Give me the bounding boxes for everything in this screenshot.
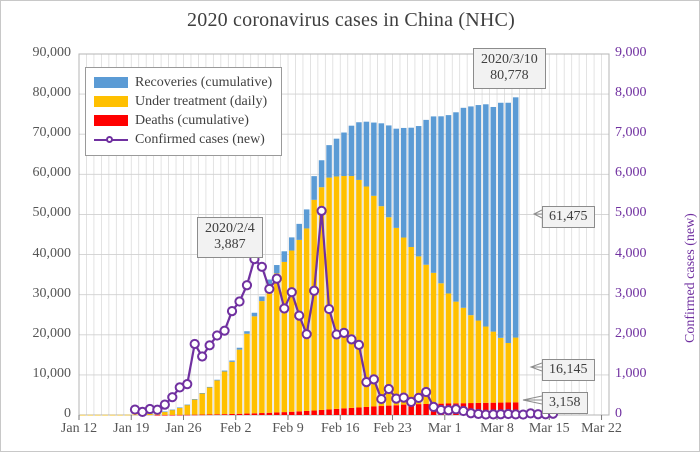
y-axis-left-tick: 70,000 [5, 125, 71, 141]
y-axis-left-tick: 10,000 [5, 366, 71, 382]
legend-color-swatch [94, 115, 128, 126]
y-axis-right-tick: 6,000 [615, 165, 647, 181]
y-axis-left-tick: 20,000 [5, 326, 71, 342]
y-axis-right-tick: 7,000 [615, 125, 647, 141]
y-axis-right-tick: 9,000 [615, 45, 647, 61]
annotation-line: 3,887 [205, 237, 255, 253]
y-axis-right-tick: 3,000 [615, 286, 647, 302]
annotation-line: 2020/2/4 [205, 221, 255, 237]
annotation-deaths-total: 3,158 [542, 392, 588, 414]
chart-legend: Recoveries (cumulative)Under treatment (… [85, 67, 282, 156]
annotation-line: 2020/3/10 [481, 52, 538, 68]
y-axis-left-tick: 40,000 [5, 246, 71, 262]
chart-title: 2020 coronavirus cases in China (NHC) [1, 9, 700, 32]
legend-label: Recoveries (cumulative) [135, 73, 272, 92]
legend-color-swatch [94, 96, 128, 107]
chart-frame: 2020 coronavirus cases in China (NHC) 01… [0, 0, 700, 452]
y-axis-right-tick: 0 [615, 406, 622, 422]
annotation-total-confirmed: 2020/3/1080,778 [473, 48, 546, 89]
legend-line-swatch [94, 134, 128, 145]
y-axis-left-tick: 0 [5, 406, 71, 422]
legend-item[interactable]: Recoveries (cumulative) [94, 73, 272, 92]
legend-item[interactable]: Deaths (cumulative) [94, 111, 272, 130]
y-axis-right-title: Confirmed cases (new) [683, 213, 699, 343]
annotation-line: 3,158 [549, 395, 581, 410]
y-axis-right-tick: 4,000 [615, 246, 647, 262]
legend-label: Under treatment (daily) [135, 92, 267, 111]
y-axis-left-tick: 50,000 [5, 205, 71, 221]
legend-label: Confirmed cases (new) [135, 130, 265, 149]
y-axis-left-tick: 60,000 [5, 165, 71, 181]
annotation-line: 61,475 [549, 209, 588, 224]
legend-label: Deaths (cumulative) [135, 111, 249, 130]
annotation-line: 16,145 [549, 362, 588, 377]
legend-color-swatch [94, 77, 128, 88]
annotation-under-treatment-total: 16,145 [542, 359, 595, 381]
y-axis-right-tick: 5,000 [615, 205, 647, 221]
legend-item[interactable]: Confirmed cases (new) [94, 130, 272, 149]
y-axis-left-tick: 80,000 [5, 85, 71, 101]
y-axis-left-tick: 90,000 [5, 45, 71, 61]
y-axis-right-tick: 2,000 [615, 326, 647, 342]
annotation-line: 80,778 [481, 68, 538, 84]
y-axis-left-tick: 30,000 [5, 286, 71, 302]
x-axis-tick: Mar 22 [568, 421, 636, 437]
y-axis-right-tick: 8,000 [615, 85, 647, 101]
legend-item[interactable]: Under treatment (daily) [94, 92, 272, 111]
y-axis-right-tick: 1,000 [615, 366, 647, 382]
annotation-recoveries-total: 61,475 [542, 206, 595, 228]
annotation-peak-new-cases: 2020/2/43,887 [197, 217, 263, 258]
